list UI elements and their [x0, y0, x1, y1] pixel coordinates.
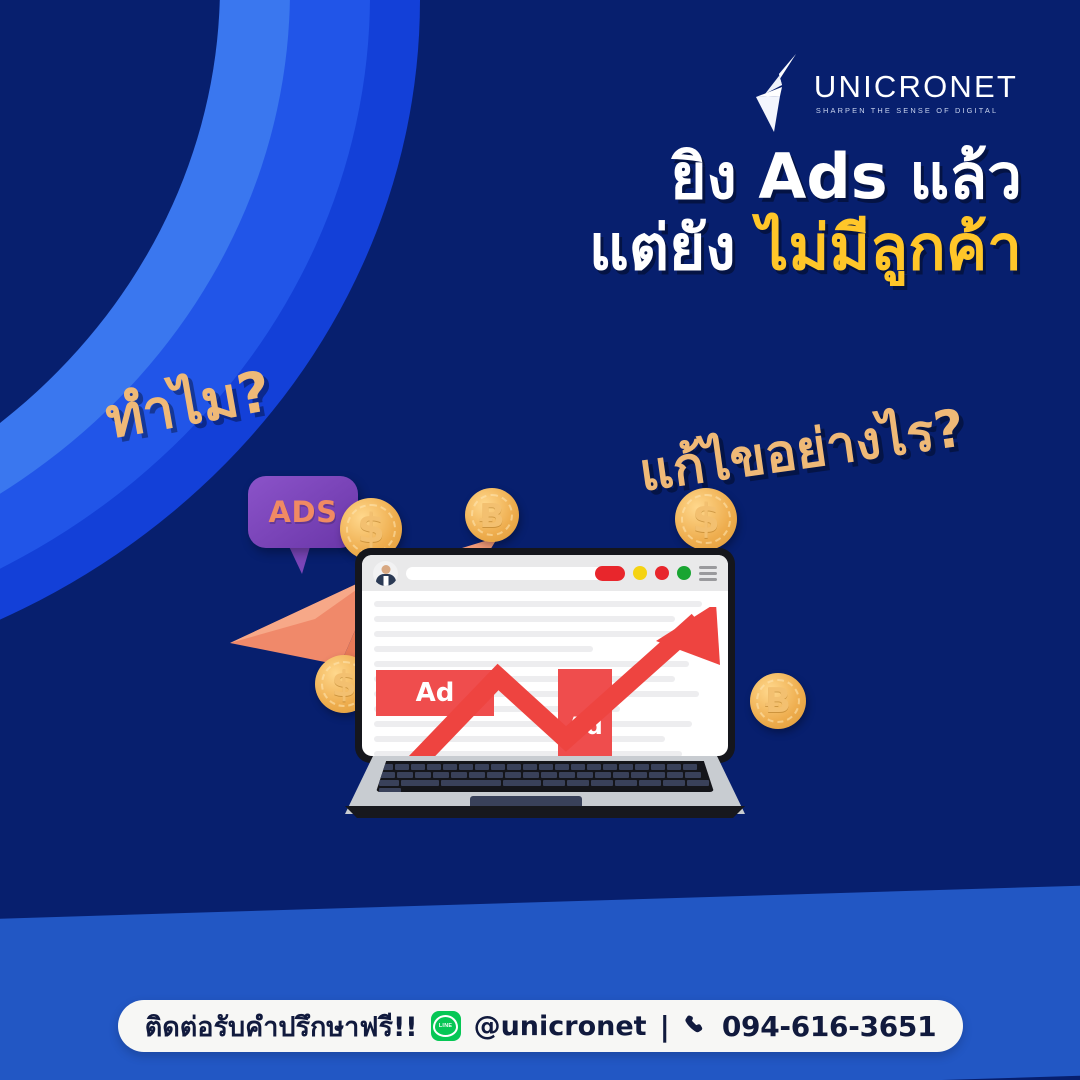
dollar-coin-icon: $ [675, 488, 737, 550]
footer-separator: | [660, 1010, 670, 1043]
phone-number[interactable]: 094-616-3651 [722, 1010, 936, 1043]
brand-logo: UNICRONET SHARPEN THE SENSE OF DIGITAL [752, 52, 1018, 134]
coin-glyph: $ [357, 506, 385, 552]
browser-window: Ad Ad [362, 555, 728, 756]
logo-tagline: SHARPEN THE SENSE OF DIGITAL [814, 107, 1018, 114]
laptop-base [345, 756, 745, 828]
coin-glyph: $ [692, 496, 720, 542]
headline-line-2: แต่ยัง ไม่มีลูกค้า [0, 213, 1022, 282]
footer-cta-text: ติดต่อรับคำปรึกษาฟรี!! [145, 1005, 418, 1048]
headline-line-2-white: แต่ยัง [589, 211, 757, 284]
ad-block-right: Ad [558, 669, 612, 756]
phone-icon [683, 1013, 709, 1039]
window-dot-yellow[interactable] [633, 566, 647, 580]
page-title: ยิง Ads แล้ว แต่ยัง ไม่มีลูกค้า [0, 142, 1022, 283]
browser-page-content: Ad Ad [362, 591, 728, 756]
hamburger-menu-icon[interactable] [699, 566, 717, 581]
logo-name: UNICRONET [814, 71, 1018, 102]
line-handle[interactable]: @unicronet [474, 1011, 647, 1042]
bitcoin-coin-icon: Ƀ [750, 673, 806, 729]
window-dot-green[interactable] [677, 566, 691, 580]
ad-block-left: Ad [376, 670, 494, 716]
line-icon-label: LINE [439, 1023, 452, 1029]
laptop-illustration: Ad Ad [345, 548, 745, 848]
browser-toolbar [362, 555, 728, 591]
address-bar-accent [595, 566, 625, 581]
hero-illustration: ADS $ Ƀ $ $ Ƀ [220, 470, 870, 870]
headline-line-2-highlight: ไม่มีลูกค้า [757, 211, 1022, 284]
unicronet-arrow-mark-icon [752, 52, 804, 134]
coin-glyph: Ƀ [765, 681, 791, 721]
laptop-screen-frame: Ad Ad [355, 548, 735, 763]
ads-bubble-label: ADS [269, 495, 338, 529]
poster-canvas: UNICRONET SHARPEN THE SENSE OF DIGITAL ย… [0, 0, 1080, 1080]
window-dot-red[interactable] [655, 566, 669, 580]
contact-footer-bar: ติดต่อรับคำปรึกษาฟรี!! LINE @unicronet |… [118, 1000, 963, 1052]
laptop-keyboard [376, 761, 714, 792]
bitcoin-coin-icon: Ƀ [465, 488, 519, 542]
line-app-icon[interactable]: LINE [431, 1011, 461, 1041]
address-bar[interactable] [406, 567, 625, 580]
headline-line-1: ยิง Ads แล้ว [670, 140, 1022, 213]
laptop-base-shadow [345, 806, 745, 818]
coin-glyph: Ƀ [479, 496, 504, 535]
user-avatar-icon [373, 561, 398, 586]
